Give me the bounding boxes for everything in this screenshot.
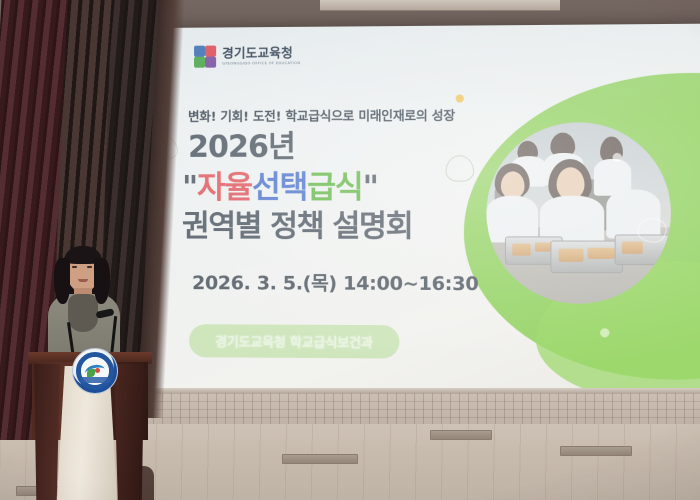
slide-content: 경기도교육청 GYEONGGIDO OFFICE OF EDUCATION 변화…: [152, 24, 700, 399]
slide-department-badge: 경기도교육청 학교급식보건과: [189, 324, 399, 358]
ceiling-rail: [320, 0, 560, 11]
slide-title-quoted: "자율선택급식": [182, 173, 378, 204]
close-quote: ": [363, 170, 378, 206]
slide-title-year: 2026년: [188, 133, 295, 163]
logo-korean-name: 경기도교육청: [222, 47, 300, 60]
slide-tagline: 변화! 기회! 도전! 학교급식으로 미래인재로의 성장: [188, 105, 455, 125]
podium-side-right: [114, 364, 144, 500]
logo-english-name: GYEONGGIDO OFFICE OF EDUCATION: [222, 62, 300, 66]
slide-title-subtitle: 권역별 정책 설명회: [182, 212, 412, 242]
speaker-eye: [72, 266, 77, 268]
open-quote: ": [182, 170, 197, 206]
slide-logo: 경기도교육청 GYEONGGIDO OFFICE OF EDUCATION: [194, 45, 300, 68]
logo-text: 경기도교육청 GYEONGGIDO OFFICE OF EDUCATION: [222, 47, 300, 66]
podium-and-speaker: [10, 230, 210, 500]
speaker-scarf: [68, 294, 98, 332]
gyeonggi-education-logo-icon: [194, 46, 216, 68]
speaker-hair-right: [94, 258, 110, 304]
slide-datetime: 2026. 3. 5.(목) 14:00~16:30: [192, 268, 478, 296]
floor-plate: [430, 430, 492, 440]
floor-plate: [282, 454, 358, 464]
speaker-hair-left: [54, 258, 70, 304]
title-word-choice: 선택: [252, 170, 307, 206]
speaker-mouth: [78, 279, 88, 282]
podium-side-left: [34, 364, 60, 500]
speaker-eye: [87, 266, 92, 268]
presentation-hall-photo: 경기도교육청 GYEONGGIDO OFFICE OF EDUCATION 변화…: [0, 0, 700, 500]
title-word-autonomy: 자율: [197, 170, 252, 206]
title-word-meal: 급식: [307, 170, 362, 206]
projection-screen: 경기도교육청 GYEONGGIDO OFFICE OF EDUCATION 변화…: [152, 24, 700, 399]
school-crest-icon: [72, 348, 118, 394]
floor-plate: [560, 446, 632, 456]
